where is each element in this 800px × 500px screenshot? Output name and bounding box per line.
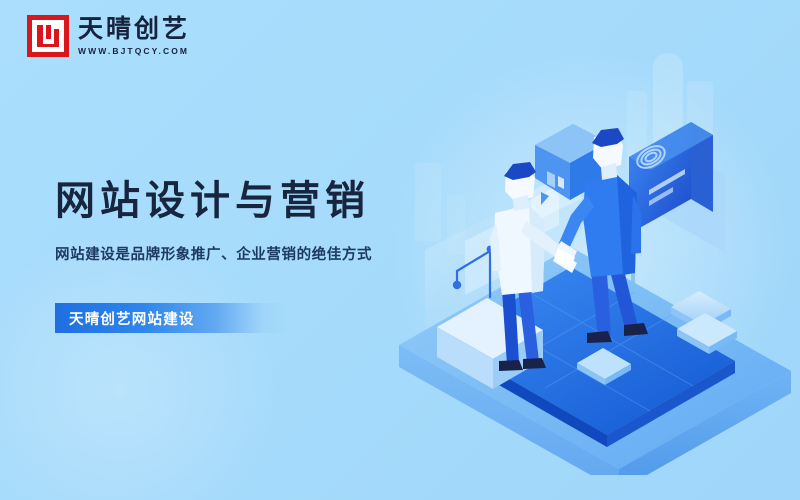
brand-logo[interactable]: 天晴创艺 WWW.BJTQCY.COM [27, 10, 190, 62]
cta-banner-bar[interactable]: 天晴创艺网站建设 [55, 303, 290, 333]
logo-website-url: WWW.BJTQCY.COM [78, 46, 190, 56]
hero-illustration [395, 45, 800, 475]
background-glow-left [0, 240, 300, 500]
promo-banner: 天晴创艺 WWW.BJTQCY.COM 网站设计与营销 网站建设是品牌形象推广、… [0, 0, 800, 500]
logo-text-block: 天晴创艺 WWW.BJTQCY.COM [78, 16, 190, 55]
logo-mark-icon [27, 15, 69, 57]
logo-brand-name: 天晴创艺 [78, 16, 190, 42]
cta-label: 天晴创艺网站建设 [55, 308, 195, 329]
